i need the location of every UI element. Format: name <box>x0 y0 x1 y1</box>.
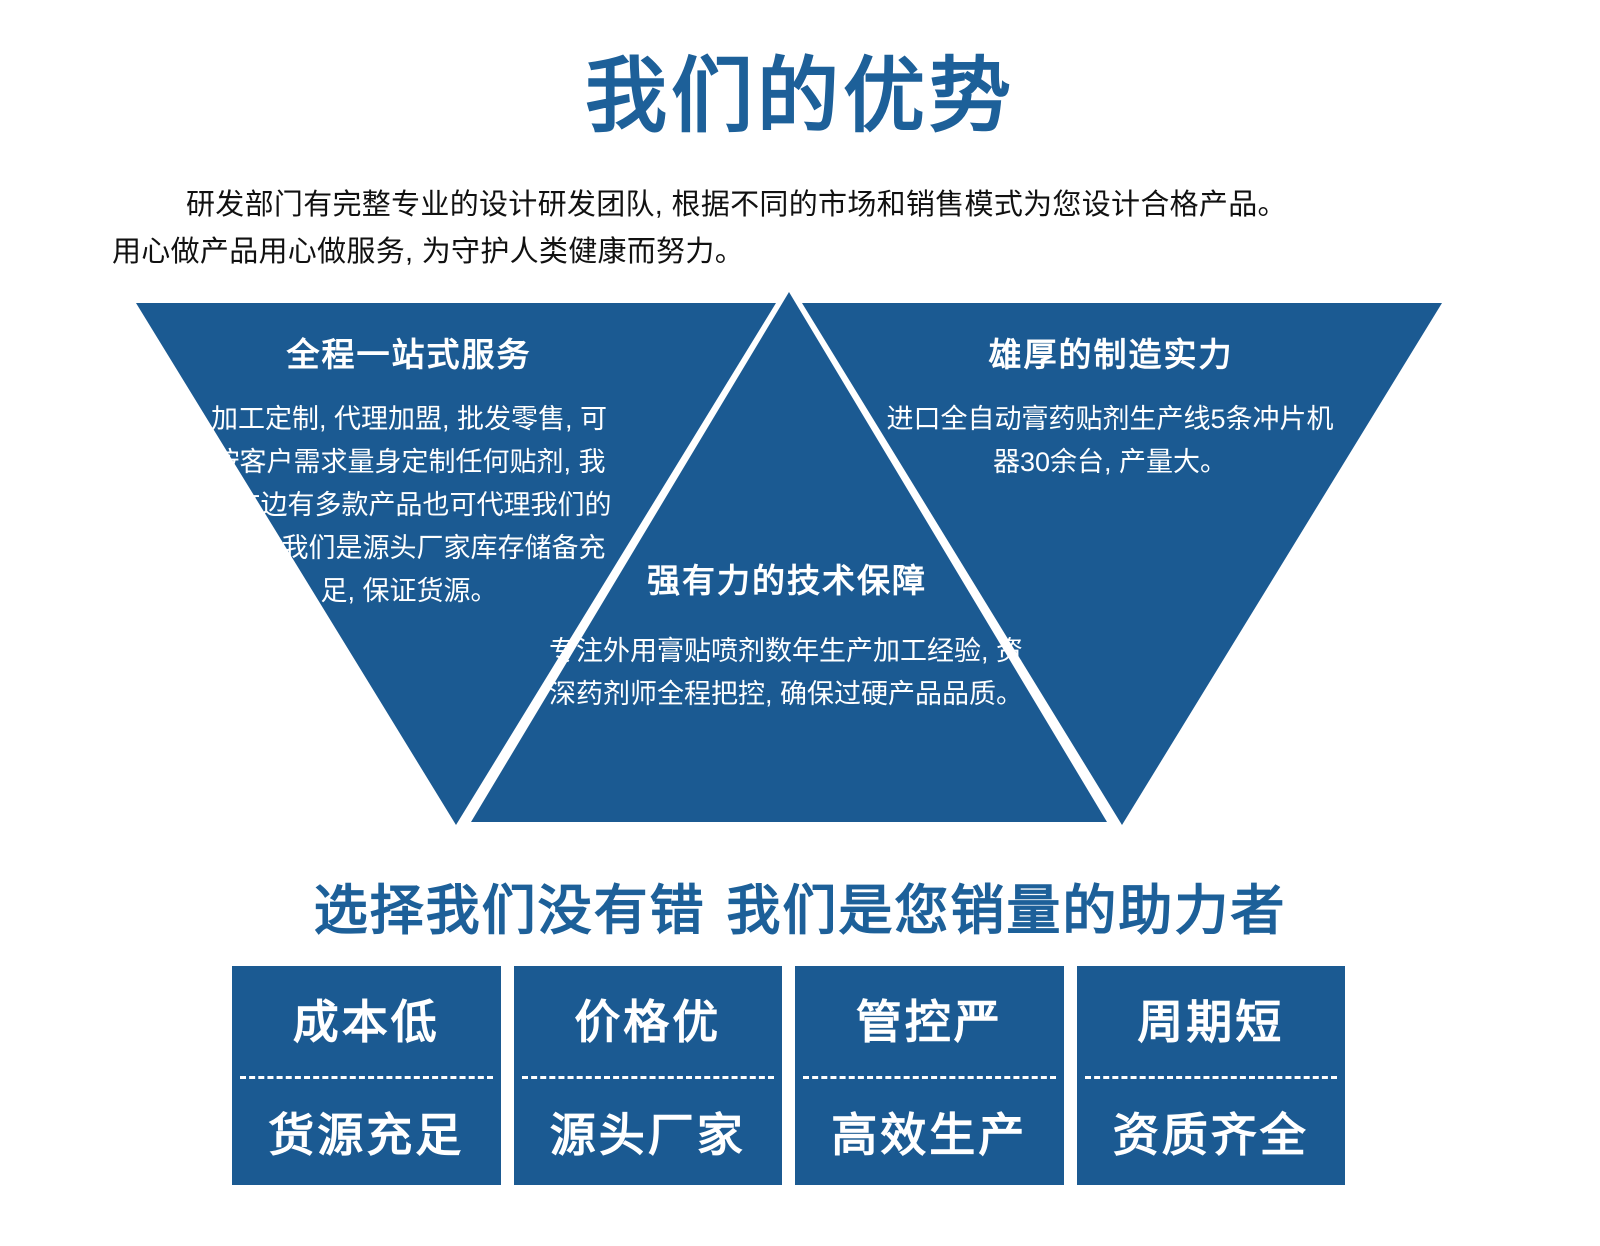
advantage-card-subtitle: 源头厂家 <box>514 1076 783 1186</box>
triangle-middle-heading: 强有力的技术保障 <box>572 562 1002 600</box>
intro-line-2: 用心做产品用心做服务, 为守护人类健康而努力。 <box>112 236 744 268</box>
advantage-card[interactable]: 周期短 资质齐全 <box>1077 966 1346 1185</box>
dashed-divider <box>522 1076 775 1079</box>
triangle-left-heading: 全程一站式服务 <box>194 336 624 374</box>
page-title: 我们的优势 <box>0 56 1600 138</box>
advantage-card-subtitle: 资质齐全 <box>1077 1076 1346 1186</box>
dashed-divider <box>240 1076 493 1079</box>
advantages-page: 我们的优势 研发部门有完整专业的设计研发团队, 根据不同的市场和销售模式为您设计… <box>0 0 1600 1246</box>
triangle-right-heading: 雄厚的制造实力 <box>886 336 1336 374</box>
advantage-card-title: 周期短 <box>1077 966 1346 1076</box>
slogan-heading: 选择我们没有错 我们是您销量的助力者 <box>0 880 1600 942</box>
triangle-left-body: 加工定制, 代理加盟, 批发零售, 可按客户需求量身定制任何贴剂, 我们这边有多… <box>200 398 618 613</box>
advantage-card-subtitle: 货源充足 <box>232 1076 501 1186</box>
advantage-card[interactable]: 价格优 源头厂家 <box>514 966 783 1185</box>
intro-paragraph: 研发部门有完整专业的设计研发团队, 根据不同的市场和销售模式为您设计合格产品。 … <box>112 182 1502 276</box>
advantage-card-row: 成本低 货源充足 价格优 源头厂家 管控严 高效生产 周期短 资质齐全 <box>232 966 1345 1185</box>
advantage-card-title: 价格优 <box>514 966 783 1076</box>
triangle-diagram: 全程一站式服务 加工定制, 代理加盟, 批发零售, 可按客户需求量身定制任何贴剂… <box>0 290 1600 835</box>
triangle-right-body: 进口全自动膏药贴剂生产线5条冲片机器30余台, 产量大。 <box>880 398 1340 484</box>
dashed-divider <box>1085 1076 1338 1079</box>
intro-line-1: 研发部门有完整专业的设计研发团队, 根据不同的市场和销售模式为您设计合格产品。 <box>186 189 1287 221</box>
advantage-card[interactable]: 成本低 货源充足 <box>232 966 501 1185</box>
advantage-card-title: 成本低 <box>232 966 501 1076</box>
dashed-divider <box>803 1076 1056 1079</box>
advantage-card-title: 管控严 <box>795 966 1064 1076</box>
advantage-card-subtitle: 高效生产 <box>795 1076 1064 1186</box>
advantage-card[interactable]: 管控严 高效生产 <box>795 966 1064 1185</box>
triangle-middle-body: 专注外用膏贴喷剂数年生产加工经验, 资深药剂师全程把控, 确保过硬产品品质。 <box>536 630 1036 716</box>
